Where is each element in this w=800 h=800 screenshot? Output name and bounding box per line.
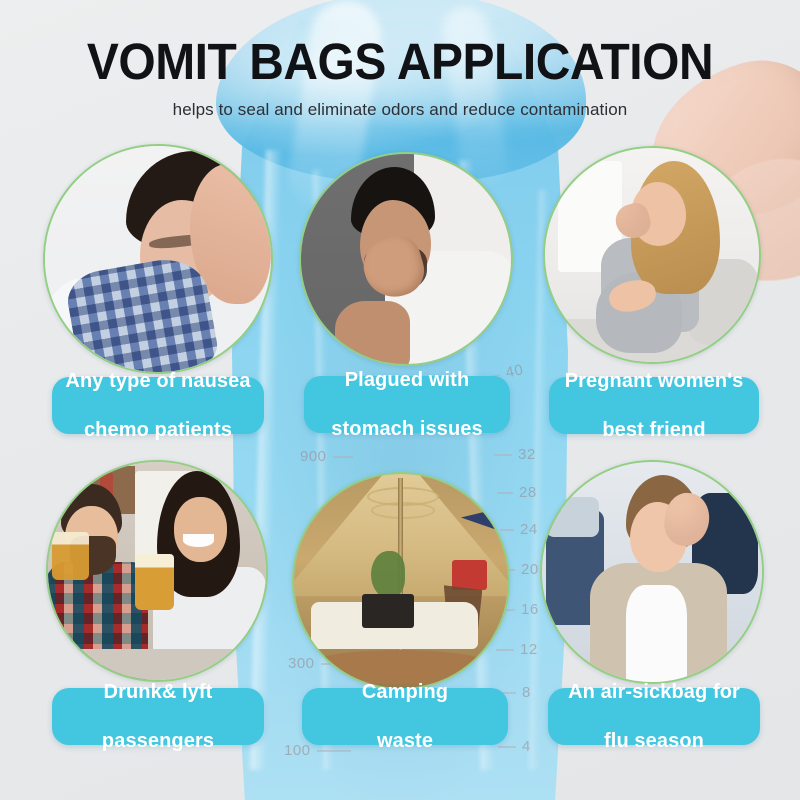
caption-line-1: Pregnant women's bbox=[559, 369, 749, 393]
photo-nauseous-man bbox=[301, 154, 511, 364]
caption-flu-season[interactable]: An air-sickbag for flu season bbox=[548, 688, 760, 745]
scale-mark-900: 900 bbox=[300, 448, 353, 465]
photo-circle-drunk-passengers[interactable] bbox=[46, 460, 268, 682]
page-subtitle: helps to seal and eliminate odors and re… bbox=[0, 100, 800, 120]
caption-stomach-issues[interactable]: Plagued with stomach issues bbox=[304, 376, 510, 433]
photo-circle-flu-season[interactable] bbox=[540, 460, 764, 684]
photo-circle-camping-waste[interactable] bbox=[292, 472, 510, 690]
caption-pregnant-women[interactable]: Pregnant women's best friend bbox=[549, 377, 759, 434]
page-title: VOMIT BAGS APPLICATION bbox=[24, 36, 776, 87]
caption-line-2: best friend bbox=[559, 418, 749, 442]
caption-line-2: waste bbox=[312, 729, 498, 753]
caption-line-2: stomach issues bbox=[314, 417, 500, 441]
photo-drunk-couple bbox=[48, 462, 266, 680]
photo-pregnant-woman bbox=[545, 148, 759, 362]
scale-mark-32: 32 bbox=[494, 446, 536, 463]
caption-camping-waste[interactable]: Camping waste bbox=[302, 688, 508, 745]
caption-line-1: An air-sickbag for bbox=[558, 680, 750, 704]
caption-nausea-chemo[interactable]: Any type of nausea chemo patients bbox=[52, 377, 264, 434]
photo-circle-pregnant-women[interactable] bbox=[543, 146, 761, 364]
photo-circle-stomach-issues[interactable] bbox=[299, 152, 513, 366]
photo-camping-tent bbox=[294, 474, 508, 688]
caption-line-2: chemo patients bbox=[62, 418, 254, 442]
caption-line-1: Any type of nausea bbox=[62, 369, 254, 393]
caption-line-1: Drunk& lyft bbox=[62, 680, 254, 704]
scale-mark-4: 4 bbox=[498, 738, 531, 755]
photo-circle-nausea-chemo[interactable] bbox=[43, 144, 273, 374]
caption-line-1: Camping bbox=[312, 680, 498, 704]
caption-line-2: flu season bbox=[558, 729, 750, 753]
photo-sick-man-handkerchief bbox=[45, 146, 271, 372]
caption-drunk-passengers[interactable]: Drunk& lyft passengers bbox=[52, 688, 264, 745]
photo-airsick-woman bbox=[542, 462, 762, 682]
caption-line-1: Plagued with bbox=[314, 368, 500, 392]
caption-line-2: passengers bbox=[62, 729, 254, 753]
infographic-poster: 40 32 28 24 20 16 12 8 4 900 300 100 VOM… bbox=[0, 0, 800, 800]
